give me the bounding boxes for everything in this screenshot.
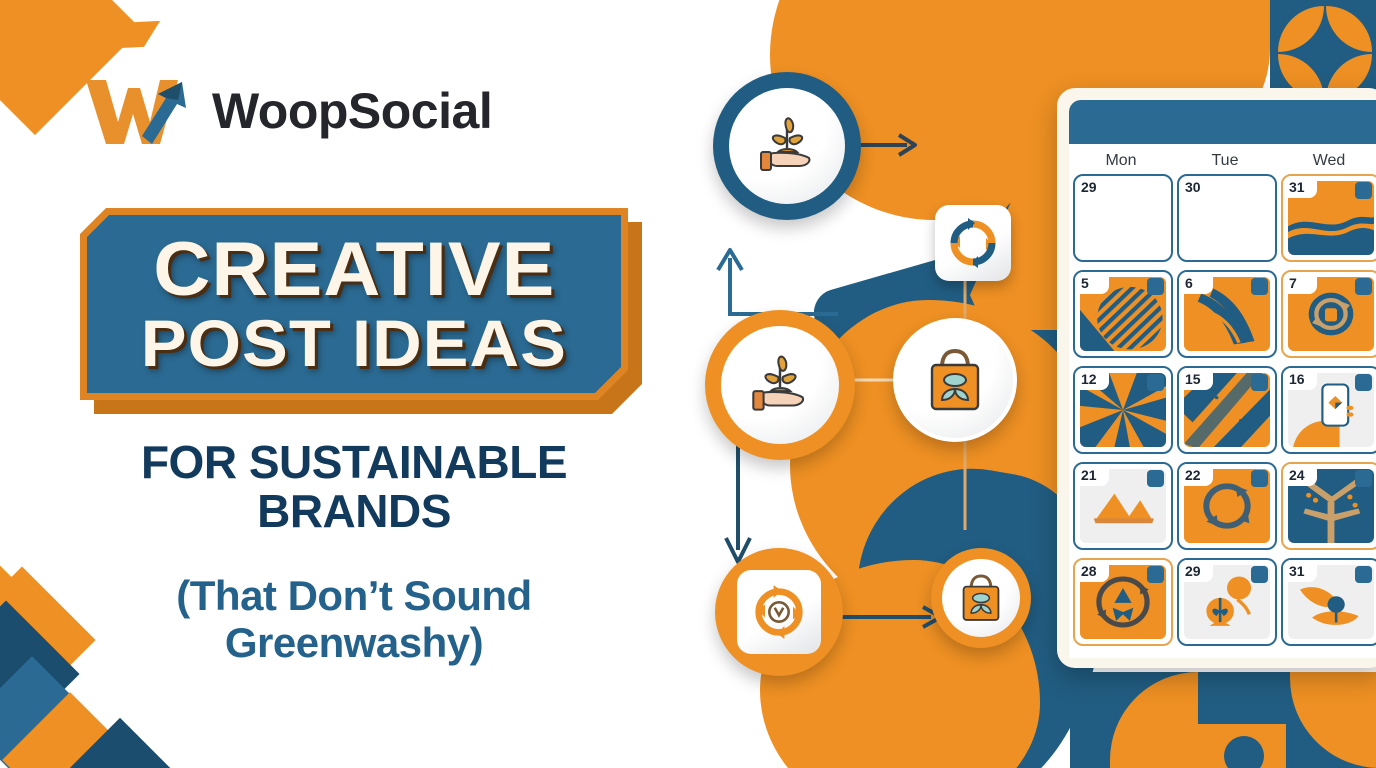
calendar-day-cell[interactable]: 30 bbox=[1177, 174, 1277, 262]
pattern-bottom-quarter-2 bbox=[1198, 672, 1286, 724]
calendar-day-cell[interactable]: 15 bbox=[1177, 366, 1277, 454]
calendar-day-number: 31 bbox=[1289, 563, 1305, 579]
content-calendar-card[interactable]: Mon Tue Wed 2930 31 5 6 bbox=[1057, 88, 1376, 668]
calendar-day-number: 29 bbox=[1185, 563, 1201, 579]
calendar-post-indicator[interactable] bbox=[1355, 278, 1372, 295]
calendar-weekday-tue: Tue bbox=[1173, 152, 1277, 170]
calendar-day-cell[interactable]: 21 bbox=[1073, 462, 1173, 550]
parenthetical-line-1: (That Don’t Sound bbox=[80, 572, 628, 619]
parenthetical-line-2: Greenwashy) bbox=[80, 619, 628, 666]
calendar-day-cell[interactable]: 31 bbox=[1281, 174, 1376, 262]
calendar-day-number: 16 bbox=[1289, 371, 1305, 387]
calendar-day-cell[interactable]: 6 bbox=[1177, 270, 1277, 358]
calendar-post-indicator[interactable] bbox=[1147, 566, 1164, 583]
node-eco-bag-mid[interactable] bbox=[893, 318, 1017, 442]
woopsocial-w-arrow-logo-icon bbox=[82, 74, 190, 148]
calendar-day-number: 7 bbox=[1289, 275, 1297, 291]
subheadline-line-2: BRANDS bbox=[80, 487, 628, 536]
calendar-day-cell[interactable]: 5 bbox=[1073, 270, 1173, 358]
calendar-day-number: 21 bbox=[1081, 467, 1097, 483]
calendar-post-indicator[interactable] bbox=[1251, 566, 1268, 583]
node-recycle-bottom[interactable] bbox=[715, 548, 843, 676]
calendar-post-indicator[interactable] bbox=[1251, 374, 1268, 391]
calendar-day-number: 12 bbox=[1081, 371, 1097, 387]
plant-in-hand-icon bbox=[729, 88, 845, 204]
calendar-day-cell[interactable]: 16 bbox=[1281, 366, 1376, 454]
calendar-weekday-row: Mon Tue Wed bbox=[1069, 144, 1376, 174]
eco-shopping-bag-icon bbox=[897, 322, 1013, 438]
calendar-post-indicator[interactable] bbox=[1355, 182, 1372, 199]
calendar-day-number: 5 bbox=[1081, 275, 1089, 291]
headline-plaque: CREATIVE POST IDEAS bbox=[80, 208, 640, 416]
text-column: WoopSocial CREATIVE POST IDEAS FOR SUSTA… bbox=[0, 0, 660, 768]
calendar-post-indicator[interactable] bbox=[1355, 374, 1372, 391]
calendar-day-number: 22 bbox=[1185, 467, 1201, 483]
headline-line-2: POST IDEAS bbox=[141, 312, 567, 374]
poster-canvas: Mon Tue Wed 2930 31 5 6 bbox=[0, 0, 1376, 768]
calendar-header-bar bbox=[1069, 100, 1376, 144]
calendar-day-cell[interactable]: 24 bbox=[1281, 462, 1376, 550]
calendar-post-indicator[interactable] bbox=[1251, 470, 1268, 487]
calendar-day-cell[interactable]: 31 bbox=[1281, 558, 1376, 646]
calendar-post-indicator[interactable] bbox=[1147, 278, 1164, 295]
node-plant-hand-mid[interactable] bbox=[705, 310, 855, 460]
calendar-day-cell[interactable]: 7 bbox=[1281, 270, 1376, 358]
node-plant-hand-top[interactable] bbox=[713, 72, 861, 220]
calendar-day-cell[interactable]: 28 bbox=[1073, 558, 1173, 646]
calendar-day-number: 28 bbox=[1081, 563, 1097, 579]
calendar-post-indicator[interactable] bbox=[1251, 278, 1268, 295]
calendar-day-number: 31 bbox=[1289, 179, 1305, 195]
calendar-weekday-wed: Wed bbox=[1277, 152, 1376, 170]
node-eco-bag-bottom[interactable] bbox=[931, 548, 1031, 648]
brand-name: WoopSocial bbox=[212, 82, 492, 140]
recycle-arrows-icon bbox=[946, 216, 1000, 270]
headline-plaque-border: CREATIVE POST IDEAS bbox=[80, 208, 628, 400]
calendar-day-number: 24 bbox=[1289, 467, 1305, 483]
calendar-grid: 2930 31 5 6 bbox=[1069, 174, 1376, 654]
calendar-day-cell[interactable]: 29 bbox=[1177, 558, 1277, 646]
calendar-day-cell[interactable]: 12 bbox=[1073, 366, 1173, 454]
brand-logo[interactable]: WoopSocial bbox=[82, 74, 492, 148]
headline-line-1: CREATIVE bbox=[153, 234, 555, 305]
calendar-post-indicator[interactable] bbox=[1147, 470, 1164, 487]
calendar-day-cell[interactable]: 29 bbox=[1073, 174, 1173, 262]
calendar-day-number: 6 bbox=[1185, 275, 1193, 291]
subheadline-line-1: FOR SUSTAINABLE bbox=[80, 438, 628, 487]
subheadline: FOR SUSTAINABLE BRANDS bbox=[80, 438, 628, 536]
node-recycle-badge[interactable] bbox=[935, 205, 1011, 281]
pattern-bottom-circle bbox=[1224, 736, 1264, 768]
calendar-body: Mon Tue Wed 2930 31 5 6 bbox=[1069, 144, 1376, 658]
calendar-post-indicator[interactable] bbox=[1355, 470, 1372, 487]
calendar-day-cell[interactable]: 22 bbox=[1177, 462, 1277, 550]
calendar-day-number: 30 bbox=[1185, 179, 1201, 195]
headline-plaque-inner: CREATIVE POST IDEAS bbox=[87, 215, 621, 393]
calendar-weekday-mon: Mon bbox=[1069, 152, 1173, 170]
calendar-day-number: 29 bbox=[1081, 179, 1097, 195]
eco-shopping-bag-icon bbox=[942, 559, 1020, 637]
recycle-arrows-icon bbox=[737, 570, 821, 654]
calendar-post-indicator[interactable] bbox=[1147, 374, 1164, 391]
parenthetical-text: (That Don’t Sound Greenwashy) bbox=[80, 572, 628, 666]
plant-in-hand-icon bbox=[721, 326, 839, 444]
calendar-day-number: 15 bbox=[1185, 371, 1201, 387]
calendar-post-indicator[interactable] bbox=[1355, 566, 1372, 583]
